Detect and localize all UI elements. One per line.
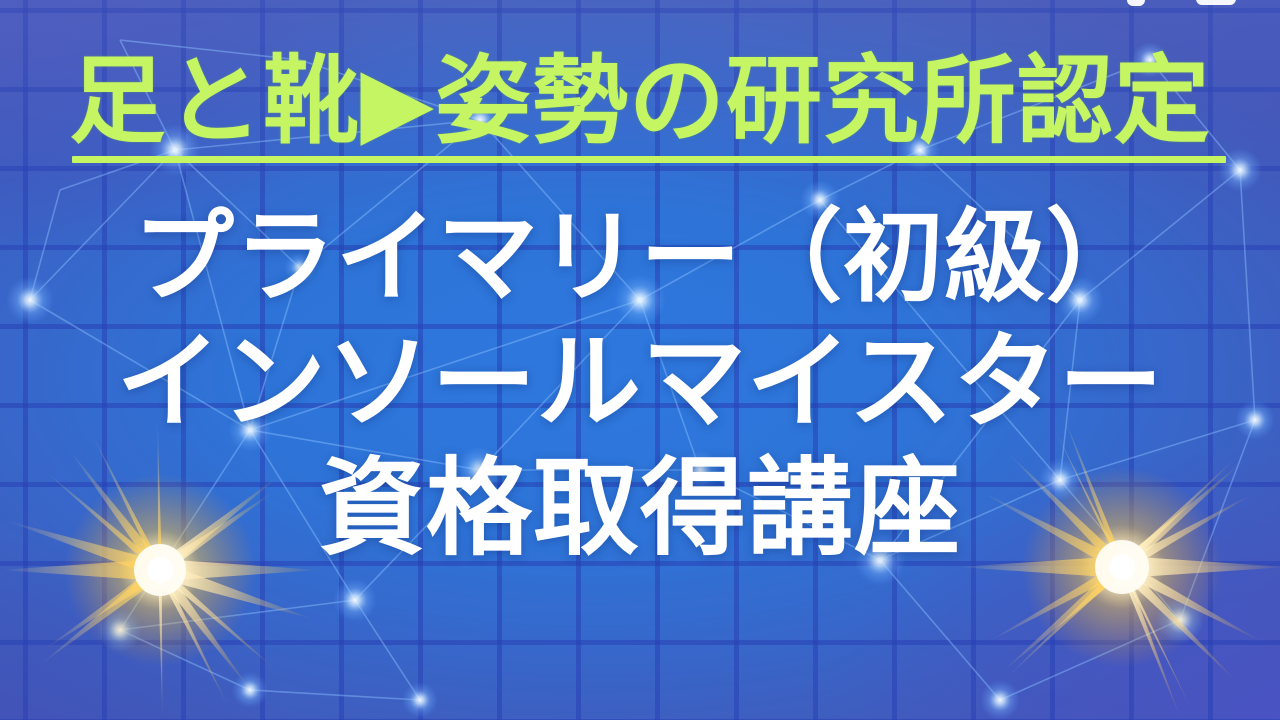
banner-content: 足と靴▶姿勢の研究所認定 プライマリー（初級） インソールマイスター 資格取得講… (0, 0, 1280, 720)
eyebrow-row: 足と靴▶姿勢の研究所認定 (0, 52, 1280, 152)
headline-line-2: インソールマイスター (0, 331, 1280, 436)
headline-line-1: プライマリー（初級） (0, 208, 1280, 309)
banner-canvas: 足と靴▶姿勢の研究所認定 プライマリー（初級） インソールマイスター 資格取得講… (0, 0, 1280, 720)
headline-line-3: 資格取得講座 (0, 457, 1280, 563)
headline-block: プライマリー（初級） インソールマイスター 資格取得講座 (0, 208, 1280, 563)
eyebrow-underline (72, 156, 1226, 163)
eyebrow-text: 足と靴▶姿勢の研究所認定 (69, 52, 1210, 152)
